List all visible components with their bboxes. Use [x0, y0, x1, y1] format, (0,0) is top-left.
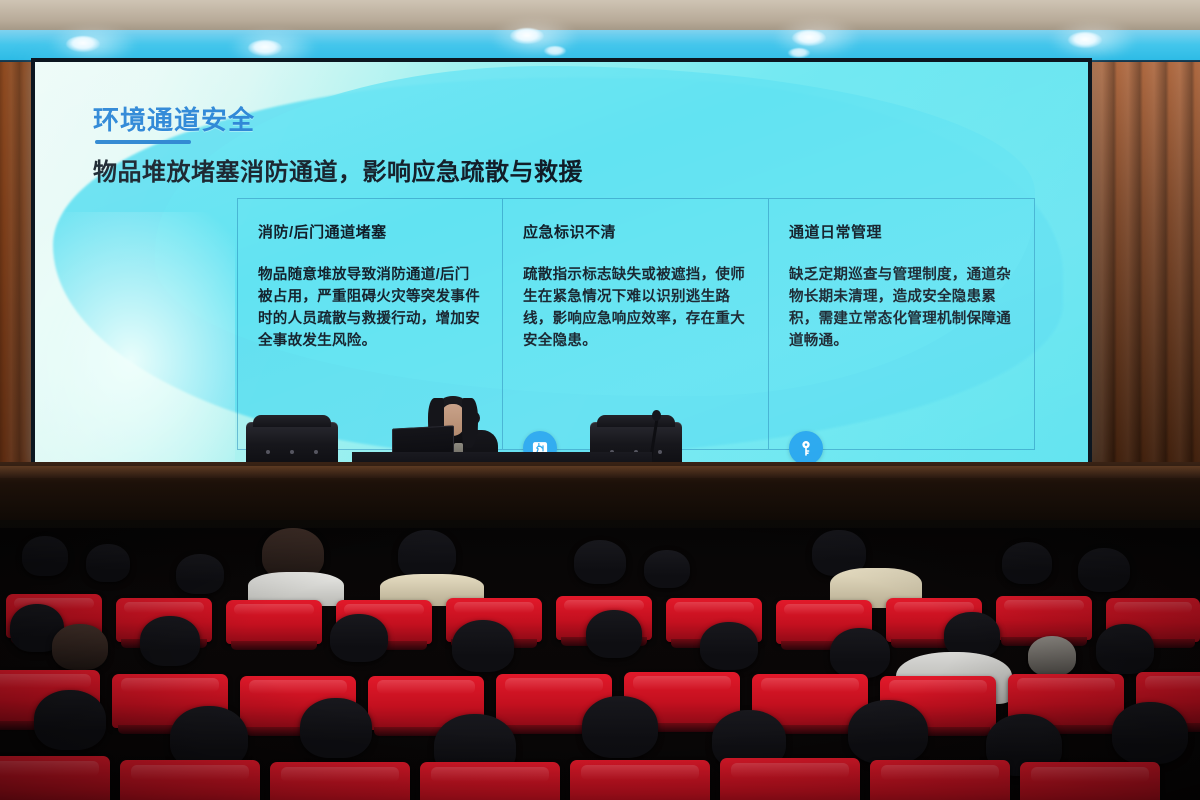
audience-head: [398, 530, 456, 580]
audience-head: [34, 690, 106, 750]
ceiling-spotlight: [510, 28, 544, 44]
audience-seat: [420, 762, 560, 800]
audience-seat: [870, 760, 1010, 800]
audience-head: [574, 540, 626, 584]
audience-seat: [996, 596, 1092, 640]
ceiling-spotlight: [1068, 32, 1102, 48]
card-title: 消防/后门通道堵塞: [258, 221, 482, 242]
audience-area: [0, 528, 1200, 800]
card-title: 应急标识不清: [523, 221, 748, 242]
slide-subheading: 物品堆放堵塞消防通道，影响应急疏散与救援: [93, 152, 583, 187]
card-title: 通道日常管理: [789, 221, 1014, 242]
stage-ledge: [0, 466, 1200, 478]
audience-head: [700, 622, 758, 670]
audience-head: [586, 610, 642, 658]
presenter-hair-right: [462, 398, 478, 448]
slide-card-row: 消防/后门通道堵塞 物品随意堆放导致消防通道/后门被占用，严重阻碍火灾等突发事件…: [237, 198, 1037, 450]
audience-head: [1078, 548, 1130, 592]
audience-head: [330, 614, 388, 662]
audience-head: [582, 696, 658, 758]
title-underline-rule: [95, 140, 191, 144]
audience-head: [140, 616, 200, 666]
audience-head: [1028, 636, 1076, 676]
audience-head: [1002, 542, 1052, 584]
audience-seat: [570, 760, 710, 800]
audience-head: [22, 536, 68, 576]
audience-seat: [120, 760, 260, 800]
audience-head: [300, 698, 372, 758]
right-wood-wall: [1088, 62, 1200, 492]
ceiling-spotlight: [248, 40, 282, 56]
audience-seat: [226, 600, 322, 644]
ceiling-slab: [0, 0, 1200, 34]
card-body: 疏散指示标志缺失或被遮挡，使师生在紧急情况下难以识别逃生路线，影响应急响应效率，…: [523, 264, 748, 352]
audience-head: [176, 554, 224, 594]
audience-head: [848, 700, 928, 764]
audience-head: [1112, 702, 1188, 764]
presentation-slide: 环境通道安全 物品堆放堵塞消防通道，影响应急疏散与救援 消防/后门通道堵塞 物品…: [35, 62, 1088, 466]
audience-head: [452, 620, 514, 672]
ceiling-spotlight: [792, 30, 826, 46]
microphone-head: [652, 410, 661, 421]
audience-head: [52, 624, 108, 670]
auditorium-scene: 环境通道安全 物品堆放堵塞消防通道，影响应急疏散与救援 消防/后门通道堵塞 物品…: [0, 0, 1200, 800]
slide-kicker-title: 环境通道安全: [93, 100, 255, 137]
audience-head: [1096, 624, 1154, 674]
audience-head: [644, 550, 690, 588]
ceiling-spotlight: [66, 36, 100, 52]
audience-seat: [720, 758, 860, 800]
projection-screen: 环境通道安全 物品堆放堵塞消防通道，影响应急疏散与救援 消防/后门通道堵塞 物品…: [31, 58, 1092, 470]
audience-seat: [0, 756, 110, 800]
key-icon: [789, 431, 823, 465]
audience-head: [86, 544, 130, 582]
ceiling-spotlight: [544, 46, 566, 56]
card-body: 物品随意堆放导致消防通道/后门被占用，严重阻碍火灾等突发事件时的人员疏散与救援行…: [258, 264, 482, 352]
ceiling-spotlight: [788, 48, 810, 58]
audience-seat: [270, 762, 410, 800]
audience-seat: [1020, 762, 1160, 800]
slide-card: 应急标识不清 疏散指示标志缺失或被遮挡，使师生在紧急情况下难以识别逃生路线，影响…: [503, 198, 769, 450]
slide-card: 通道日常管理 缺乏定期巡查与管理制度，通道杂物长期未清理，造成安全隐患累积，需建…: [769, 198, 1035, 450]
card-body: 缺乏定期巡查与管理制度，通道杂物长期未清理，造成安全隐患累积，需建立常态化管理机…: [789, 264, 1014, 352]
audience-head: [830, 628, 890, 678]
